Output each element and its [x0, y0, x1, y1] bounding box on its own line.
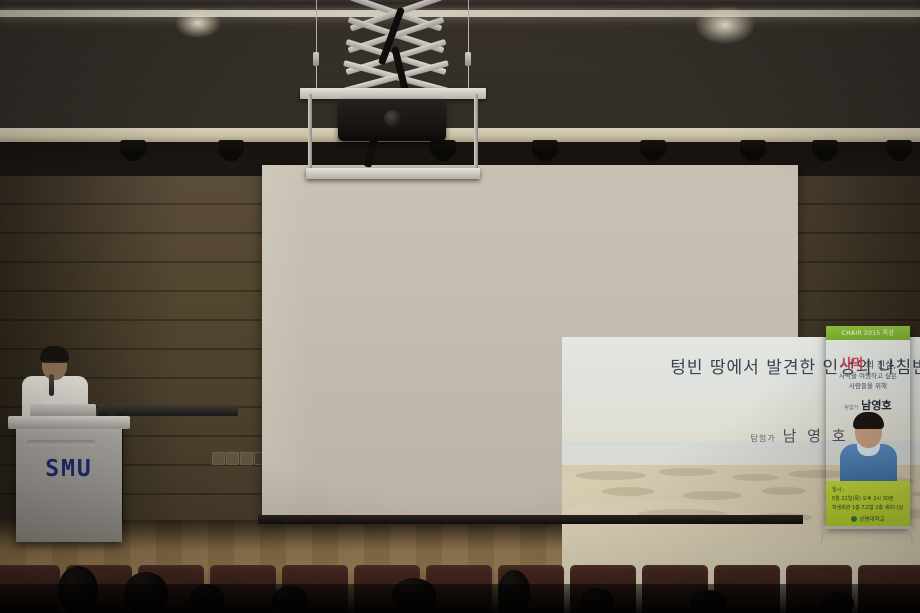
projector-lens-icon: [384, 110, 401, 127]
track-light-icon: [640, 140, 666, 157]
banner-footer-line-2: 5월 21일(목) 오후 2시 30분: [832, 495, 904, 502]
audience-foreground-shadow: [0, 584, 920, 613]
banner-footer-block: 일시 : 5월 21일(목) 오후 2시 30분 학생회관 1층 7고함 2층 …: [826, 481, 910, 527]
hang-wire: [468, 0, 469, 92]
hang-wire: [316, 0, 317, 92]
lift-lower-plate: [306, 168, 480, 179]
projection-screen: 텅빈 땅에서 발견한 인생의 나침반 탐험가남 영 호: [262, 165, 798, 520]
banner-footer-line-3: 학생회관 1층 7고함 2층 세미나실: [832, 504, 904, 511]
banner-stand-bar: [822, 526, 912, 529]
wall-outlet[interactable]: [240, 452, 253, 465]
banner-logo-mark-icon: [851, 516, 857, 522]
podium-top-surface: [8, 416, 130, 429]
banner-footer-line-1: 일시 :: [832, 486, 904, 493]
track-light-icon: [886, 140, 912, 157]
banner-portrait: [838, 410, 898, 486]
wall-outlet[interactable]: [212, 452, 225, 465]
track-light-icon: [120, 140, 146, 157]
slide-speaker-role: 탐험가: [750, 434, 775, 443]
banner-sub-line-2: 사람들을 위해: [826, 380, 910, 390]
ceiling-spot-glow: [175, 8, 221, 38]
banner-logo: 상명대학교: [826, 515, 910, 523]
banner-header-text: CHAIR 2015 특강: [826, 328, 910, 337]
podium-handle: [26, 440, 96, 446]
lift-post: [474, 94, 478, 172]
glasses-icon: [44, 361, 65, 368]
wire-anchor: [465, 52, 471, 66]
projector-lift-assembly: [300, 0, 490, 200]
wall-outlet[interactable]: [226, 452, 239, 465]
ceiling-spot-glow: [695, 6, 755, 44]
screen-glare: [262, 165, 310, 520]
lift-post: [308, 94, 312, 172]
track-light-icon: [218, 140, 244, 157]
lecture-hall-photo: 텅빈 땅에서 발견한 인생의 나침반 탐험가남 영 호: [0, 0, 920, 613]
banner-sub-line-1: 사막을 여행하고 싶은: [826, 370, 910, 380]
roll-up-banner: CHAIR 2015 특강 사막의 진실, 사막을 여행하고 싶은 사람들을 위…: [826, 326, 910, 527]
track-light-icon: [532, 140, 558, 157]
banner-logo-text: 상명대학교: [859, 517, 884, 523]
track-light-icon: [812, 140, 838, 157]
lift-upper-plate: [300, 88, 486, 99]
portrait-hair: [853, 412, 884, 429]
track-light-icon: [740, 140, 766, 157]
wire-anchor: [313, 52, 319, 66]
microphone-icon: [49, 374, 54, 396]
podium-logo: SMU: [16, 456, 122, 482]
screen-bottom-bar: [258, 515, 803, 524]
